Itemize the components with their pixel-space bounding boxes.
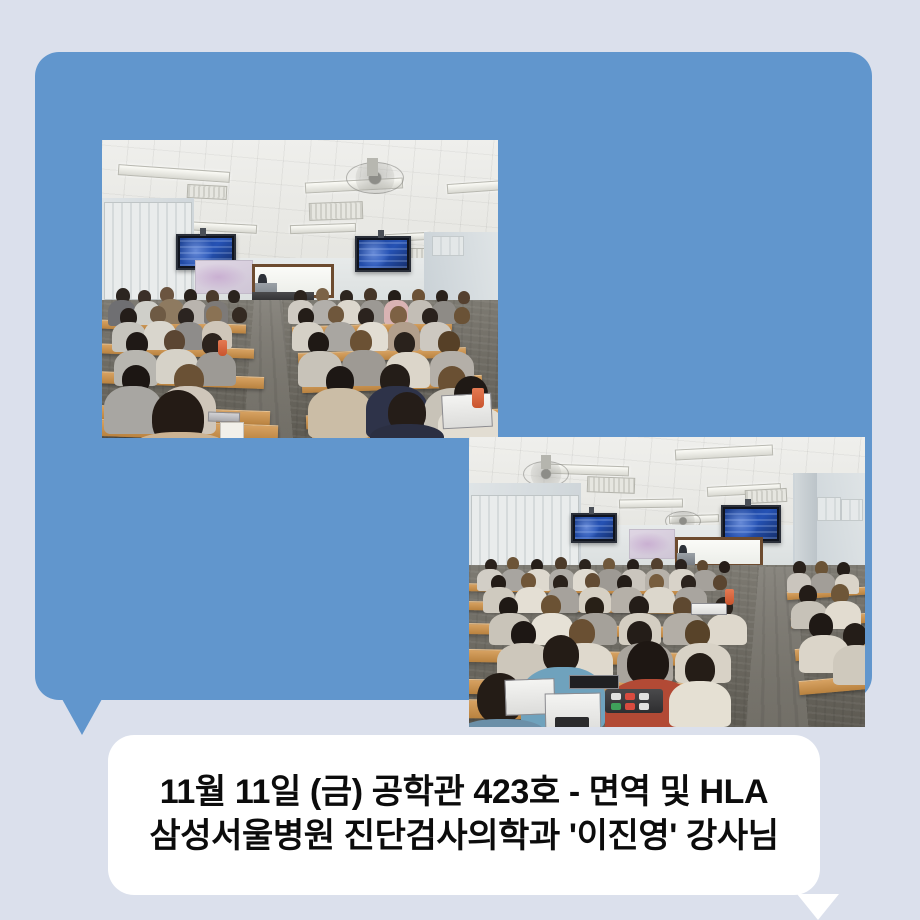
caption-line-2: 삼성서울병원 진단검사의학과 '이진영' 강사님 — [149, 815, 778, 859]
photo-collage-bubble — [35, 52, 872, 700]
caption-bubble-tail — [797, 894, 839, 920]
photo-lecture-hall-angle — [469, 437, 865, 727]
wall-monitor-left — [571, 513, 617, 543]
wall-monitor-right — [355, 236, 411, 272]
poster-canvas: 11월 11일 (금) 공학관 423호 - 면역 및 HLA 삼성서울병원 진… — [0, 0, 920, 920]
caption-line-1: 11월 11일 (금) 공학관 423호 - 면역 및 HLA — [160, 771, 768, 815]
bubble-tail — [62, 699, 102, 735]
caption-bubble: 11월 11일 (금) 공학관 423호 - 면역 및 HLA 삼성서울병원 진… — [108, 735, 820, 895]
photo-lecture-hall-wide — [102, 140, 498, 438]
